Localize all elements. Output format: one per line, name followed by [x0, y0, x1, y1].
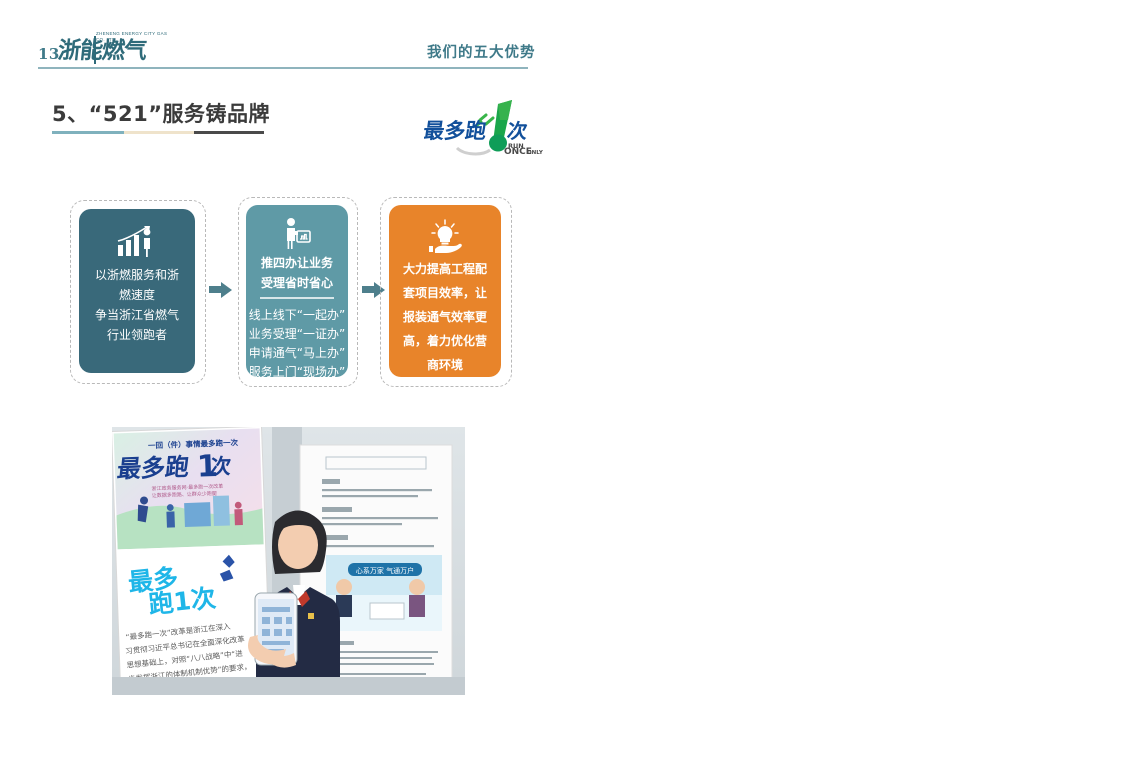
- arrow-1-tail: [209, 286, 221, 293]
- svg-text:最多跑: 最多跑: [116, 453, 191, 483]
- card-2-divider: [260, 297, 334, 299]
- bar-chart-growth-icon: [79, 225, 195, 259]
- card-1-line-2: 燃速度: [79, 285, 195, 305]
- card-2-item-2: 业务受理“一证办”: [246, 324, 348, 344]
- service-staff-photo: 心系万家 气通万户 最多跑 次: [112, 427, 465, 695]
- run-once-only-logo: 最多跑 次 RUN ONCE ONLY: [424, 98, 544, 156]
- strategy-card-3[interactable]: 大力提高工程配 套项目效率，让 报装通气效率更 高，着力优化营 商环境: [389, 205, 501, 377]
- page-title: 5、“521”服务铸品牌: [52, 100, 270, 128]
- card-3-line-1: 大力提高工程配: [389, 259, 501, 279]
- svg-text:1: 1: [196, 449, 218, 485]
- header-rule: [38, 67, 528, 69]
- svg-text:次: 次: [506, 119, 530, 143]
- svg-text:心系万家 气通万户: 心系万家 气通万户: [356, 566, 414, 575]
- lightbulb-hand-icon: [389, 219, 501, 253]
- company-logo-cjk: 浙能燃气: [57, 38, 148, 64]
- left-page: 13 我们的五大优势 ZHENENG ENERGY CITY GAS CO. L…: [0, 0, 568, 780]
- card-2-item-4: 服务上门“现场办”: [246, 362, 348, 382]
- card-2-item-1: 线上线下“一起办”: [246, 305, 348, 325]
- section-banner-label: 信息化提升服务能力: [674, 773, 688, 780]
- card-3-line-4: 高，着力优化营: [389, 331, 501, 351]
- service-person-icon: [246, 217, 348, 249]
- card-3-line-5: 商环境: [389, 355, 501, 375]
- svg-text:ONLY: ONLY: [527, 150, 544, 156]
- strategy-card-2[interactable]: 推四办让业务 受理省时省心 线上线下“一起办” 业务受理“一证办” 申请通气“马…: [246, 205, 348, 377]
- card-1-line-3: 争当浙江省燃气: [79, 305, 195, 325]
- card-1-line-4: 行业领跑者: [79, 325, 195, 345]
- slide-spread: 13 我们的五大优势 ZHENENG ENERGY CITY GAS CO. L…: [0, 0, 1135, 780]
- svg-text:最多跑: 最多跑: [424, 118, 488, 143]
- strategy-card-1[interactable]: 以浙燃服务和浙 燃速度 争当浙江省燃气 行业领跑者: [79, 209, 195, 373]
- card-3-line-3: 报装通气效率更: [389, 307, 501, 327]
- arrow-2-tail: [362, 286, 374, 293]
- page-title-underline: [52, 131, 264, 134]
- company-logo: ZHENENG ENERGY CITY GAS CO. LTD 浙能燃气: [58, 34, 168, 66]
- running-title-left: 我们的五大优势: [423, 43, 540, 63]
- card-1-line-1: 以浙燃服务和浙: [79, 265, 195, 285]
- card-2-item-3: 申请通气“马上办”: [246, 343, 348, 363]
- arrow-1-icon: [221, 282, 232, 298]
- card-3-line-2: 套项目效率，让: [389, 283, 501, 303]
- card-2-title-2: 受理省时省心: [246, 273, 348, 293]
- card-2-title-1: 推四办让业务: [246, 253, 348, 273]
